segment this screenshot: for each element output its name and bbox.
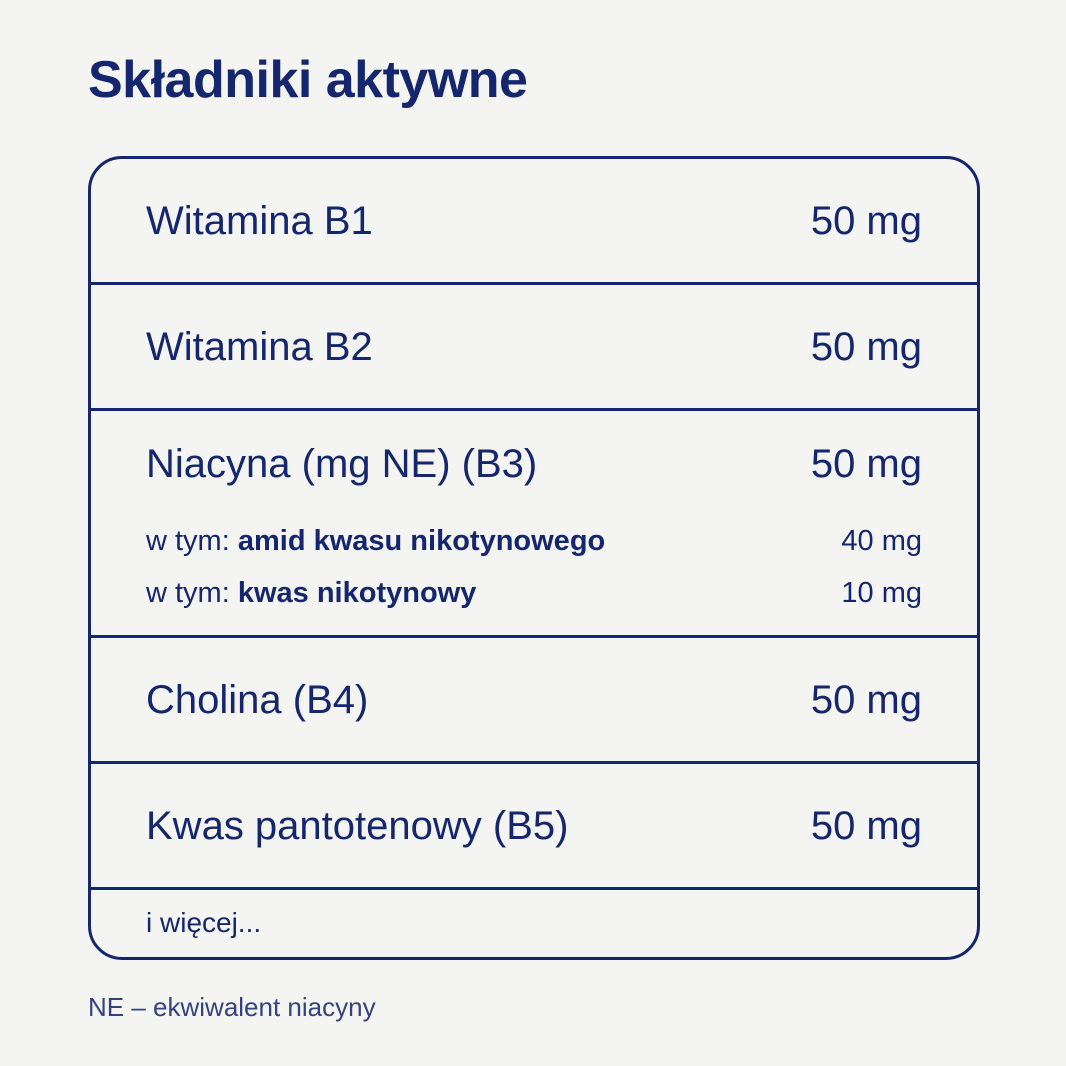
table-row: Witamina B1 50 mg: [91, 159, 977, 285]
sub-row-prefix: w tym:: [146, 577, 238, 609]
ingredient-sub-amount: 10 mg: [841, 577, 922, 610]
ingredient-name: Niacyna (mg NE) (B3): [146, 441, 537, 487]
ingredient-sub-row: w tym: kwas nikotynowy 10 mg: [146, 568, 922, 620]
page-title: Składniki aktywne: [88, 52, 527, 109]
ingredient-name: Witamina B2: [146, 324, 373, 370]
footnote: NE – ekwiwalent niacyny: [88, 992, 376, 1023]
ingredient-sub-row: w tym: amid kwasu nikotynowego 40 mg: [146, 516, 922, 568]
ingredient-sub-name: w tym: amid kwasu nikotynowego: [146, 525, 605, 558]
table-row: Kwas pantotenowy (B5) 50 mg: [91, 764, 977, 890]
ingredient-sub-name: w tym: kwas nikotynowy: [146, 577, 476, 610]
ingredient-group-header: Niacyna (mg NE) (B3) 50 mg: [146, 411, 922, 516]
sub-row-name: kwas nikotynowy: [238, 577, 477, 609]
ingredient-name: Kwas pantotenowy (B5): [146, 803, 568, 849]
ingredients-table: Witamina B1 50 mg Witamina B2 50 mg Niac…: [88, 156, 980, 960]
table-row-group: Niacyna (mg NE) (B3) 50 mg w tym: amid k…: [91, 411, 977, 638]
ingredient-sub-amount: 40 mg: [841, 525, 922, 558]
sub-row-name: amid kwasu nikotynowego: [238, 525, 605, 557]
ingredient-amount: 50 mg: [811, 441, 922, 487]
ingredient-amount: 50 mg: [811, 324, 922, 370]
ingredient-amount: 50 mg: [811, 677, 922, 723]
ingredient-name: Witamina B1: [146, 198, 373, 244]
table-row-more: i więcej...: [91, 890, 977, 956]
table-row: Cholina (B4) 50 mg: [91, 638, 977, 764]
table-row: Witamina B2 50 mg: [91, 285, 977, 411]
ingredient-name: Cholina (B4): [146, 677, 368, 723]
ingredient-amount: 50 mg: [811, 803, 922, 849]
more-items-label: i więcej...: [146, 907, 261, 939]
ingredients-page: Składniki aktywne Witamina B1 50 mg Wita…: [0, 0, 1066, 1066]
sub-row-prefix: w tym:: [146, 525, 238, 557]
ingredient-amount: 50 mg: [811, 198, 922, 244]
